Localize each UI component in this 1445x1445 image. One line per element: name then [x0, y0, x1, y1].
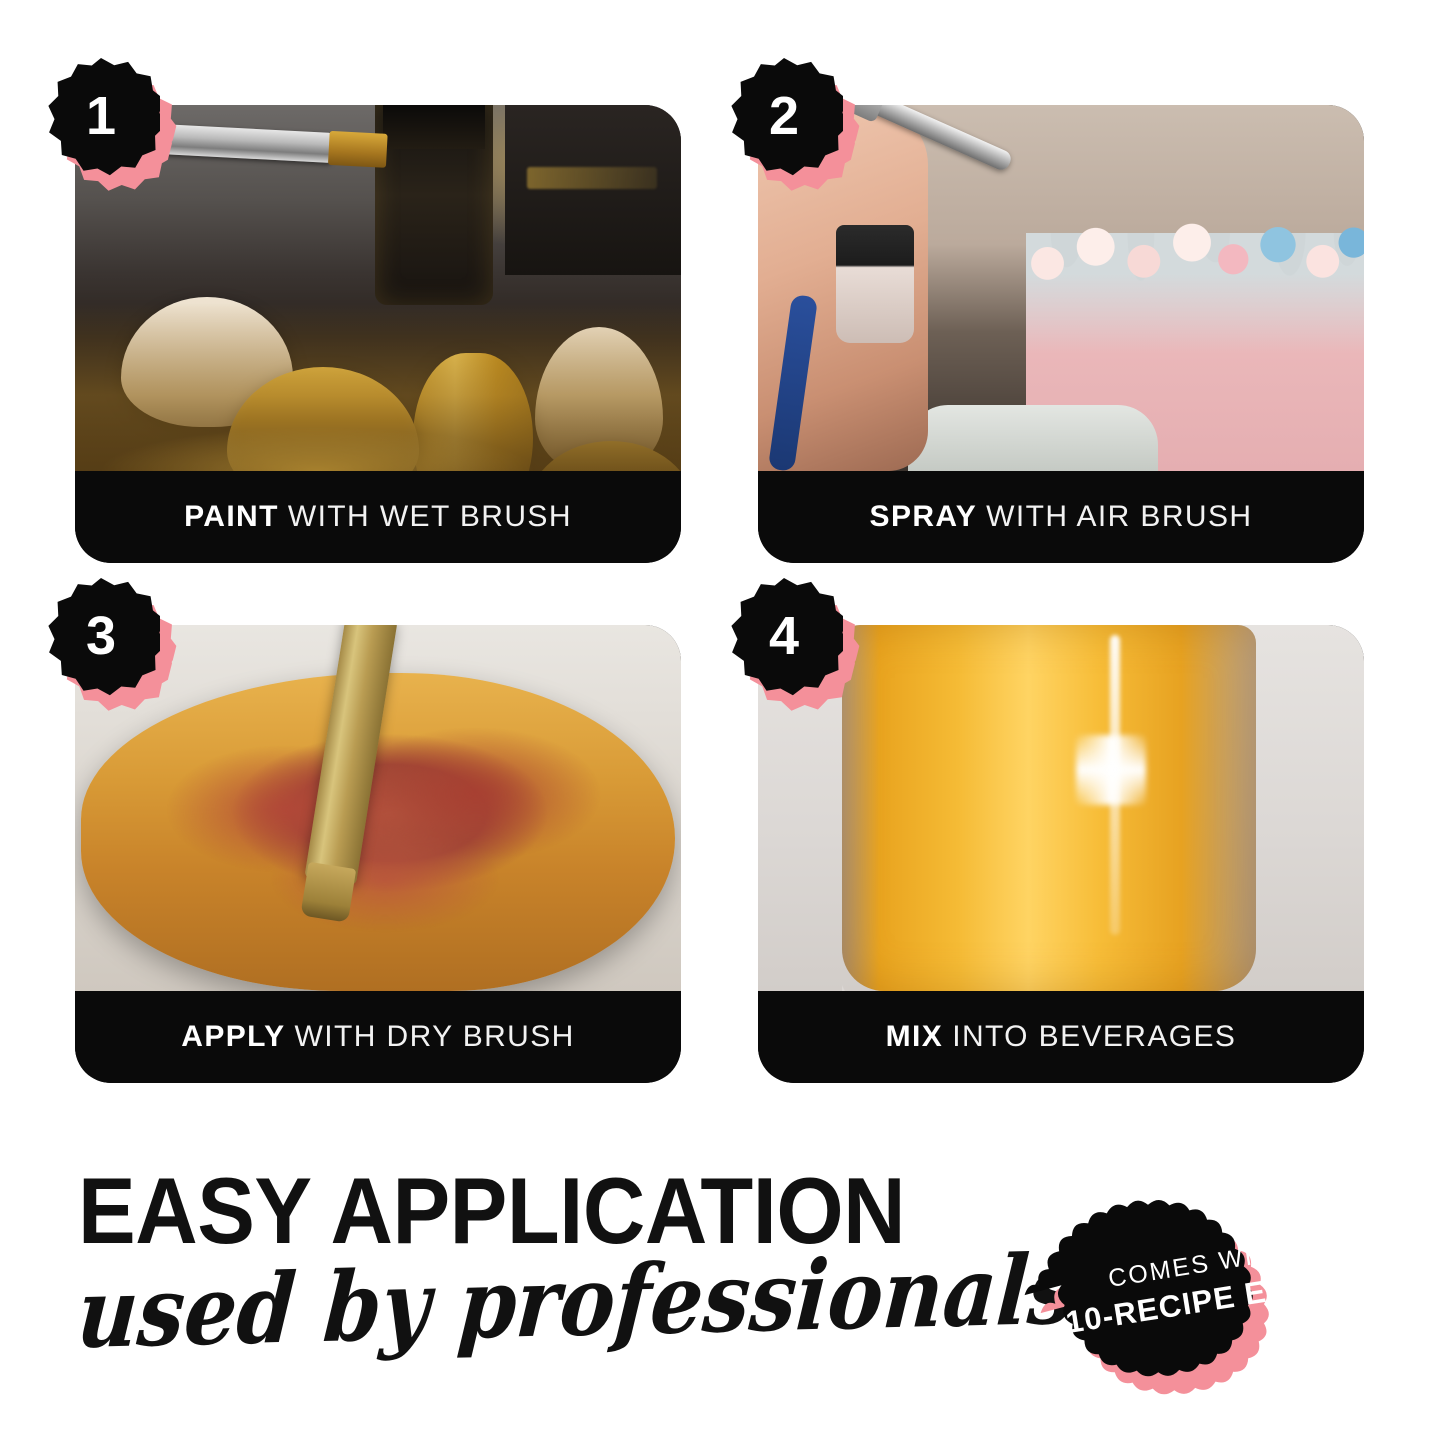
- airbrush-paint-cup: [836, 225, 914, 343]
- caption-rest-2: WITH AIR BRUSH: [986, 500, 1252, 534]
- step-number-badge-1: 1: [42, 58, 160, 176]
- luster-dust-jar: [375, 105, 493, 305]
- caption-strong-4: MIX: [886, 1020, 944, 1054]
- step-number-badge-3: 3: [42, 578, 160, 696]
- step-number-2: 2: [725, 58, 843, 176]
- macaron-gold-1: [227, 367, 419, 471]
- step-number-4: 4: [725, 578, 843, 696]
- step-number-badge-4: 4: [725, 578, 843, 696]
- caption-strong-2: SPRAY: [870, 500, 978, 534]
- macaron-gold-3: [527, 441, 681, 471]
- step-caption-2: SPRAY WITH AIR BRUSH: [758, 471, 1364, 563]
- macaron-cream-2: [535, 327, 663, 471]
- step-card-3[interactable]: APPLY WITH DRY BRUSH: [75, 625, 681, 1083]
- caption-rest-4: INTO BEVERAGES: [952, 1020, 1236, 1054]
- infographic-canvas: PAINT WITH WET BRUSH 1 SPRAY WITH AIR BR…: [0, 0, 1445, 1445]
- headline-block: EASY APPLICATION used by professionals: [78, 1166, 998, 1365]
- step-card-1[interactable]: PAINT WITH WET BRUSH: [75, 105, 681, 563]
- caption-strong-1: PAINT: [184, 500, 279, 534]
- ebook-badge[interactable]: COMES WITH A 10-RECIPE EBOOK: [1012, 1168, 1412, 1398]
- step-caption-4: MIX INTO BEVERAGES: [758, 991, 1364, 1083]
- step-caption-1: PAINT WITH WET BRUSH: [75, 471, 681, 563]
- macaron-cream: [121, 297, 293, 427]
- cake-plate: [908, 405, 1158, 471]
- headline-script: used by professionals: [74, 1245, 874, 1365]
- step-number-3: 3: [42, 578, 160, 696]
- step-caption-3: APPLY WITH DRY BRUSH: [75, 991, 681, 1083]
- sparkle-icon: [1076, 735, 1146, 805]
- step-card-4[interactable]: MIX INTO BEVERAGES: [758, 625, 1364, 1083]
- caption-rest-1: WITH WET BRUSH: [288, 500, 572, 534]
- caption-strong-3: APPLY: [181, 1020, 285, 1054]
- product-box: [505, 105, 681, 275]
- step-number-badge-2: 2: [725, 58, 843, 176]
- step-card-2[interactable]: SPRAY WITH AIR BRUSH: [758, 105, 1364, 563]
- red-luster-dust: [135, 699, 635, 949]
- frosting-rosettes: [1020, 201, 1364, 305]
- step-number-1: 1: [42, 58, 160, 176]
- shimmer-streaks: [842, 625, 1256, 991]
- caption-rest-3: WITH DRY BRUSH: [295, 1020, 575, 1054]
- macaron-gold-2: [413, 353, 533, 471]
